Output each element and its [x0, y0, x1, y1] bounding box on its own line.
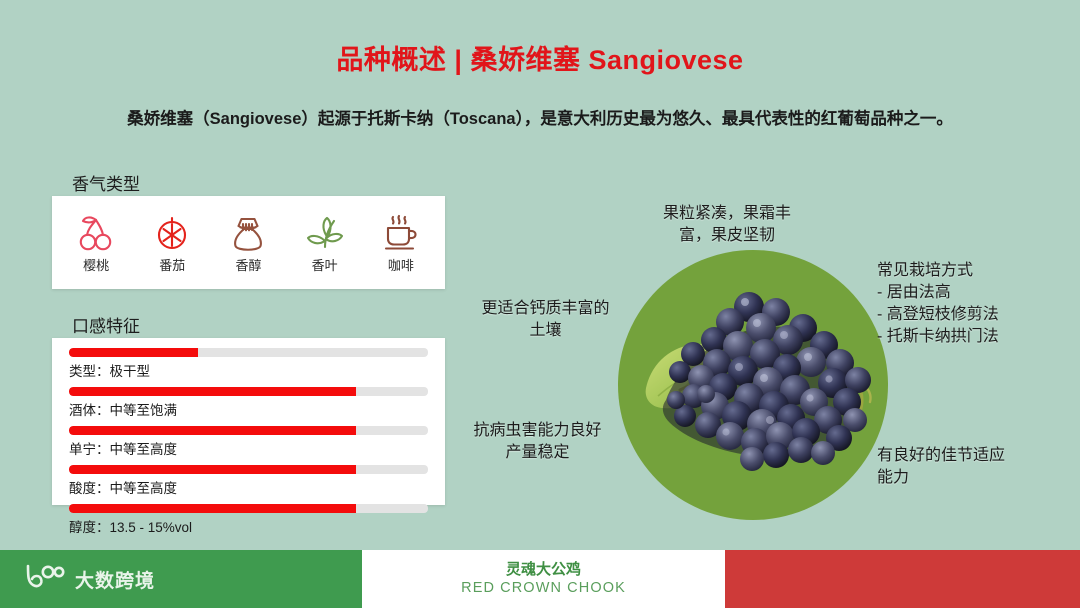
aroma-item-cherry[interactable]: 樱桃 — [59, 213, 133, 272]
taste-bar-track — [69, 504, 428, 513]
taste-bar-fill — [69, 504, 356, 513]
taste-bar-track — [69, 387, 428, 396]
footer-brand-en: RED CROWN CHOOK — [461, 579, 626, 597]
callout-heading: 常见栽培方式 — [877, 260, 1077, 282]
spice-sachet-icon — [229, 213, 267, 255]
taste-section-heading: 口感特征 — [72, 312, 140, 337]
footer-brand-name: 大数跨境 — [75, 566, 155, 593]
taste-bar-fill — [69, 426, 356, 435]
taste-card: 类型：极干型 酒体：中等至饱满 单宁：中等至高度 酸度：中等至高度 — [52, 338, 445, 505]
callout-line: 能力 — [877, 467, 1062, 489]
cherry-icon — [77, 213, 115, 255]
taste-row-text: 酒体：中等至饱满 — [69, 399, 428, 419]
lead-paragraph: 桑娇维塞（Sangiovese）起源于托斯卡纳（Toscana），是意大利历史最… — [0, 105, 1080, 129]
callout-line: 土壤 — [458, 320, 633, 342]
aroma-section-heading: 香气类型 — [72, 170, 140, 195]
grape-photo-circle — [618, 250, 888, 520]
taste-row-text: 单宁：中等至高度 — [69, 438, 428, 458]
callout-line: 产量稳定 — [440, 442, 635, 464]
aroma-item-herb[interactable]: 香叶 — [288, 213, 362, 272]
aroma-label: 咖啡 — [388, 259, 414, 272]
taste-row: 酒体：中等至饱满 — [69, 387, 428, 419]
taste-row: 类型：极干型 — [69, 348, 428, 380]
taste-row-list: 类型：极干型 酒体：中等至饱满 单宁：中等至高度 酸度：中等至高度 — [52, 338, 445, 536]
taste-bar-fill — [69, 465, 356, 474]
aroma-item-tomato[interactable]: 番茄 — [135, 213, 209, 272]
taste-row-text: 酸度：中等至高度 — [69, 477, 428, 497]
taste-row: 单宁：中等至高度 — [69, 426, 428, 458]
callout-line: 富，果皮坚韧 — [627, 225, 827, 247]
sangiovese-grape-cluster — [618, 250, 888, 520]
footer-center-brand: 灵魂大公鸡 RED CROWN CHOOK — [362, 550, 725, 608]
taste-bar-track — [69, 348, 428, 357]
taste-bar-track — [69, 465, 428, 474]
taste-row: 醇度：13.5 - 15%vol — [69, 504, 428, 536]
footer: 大数跨境 灵魂大公鸡 RED CROWN CHOOK — [0, 550, 1080, 608]
footer-accent-band — [725, 550, 1080, 608]
coffee-cup-icon — [381, 213, 421, 255]
callout-berry-traits: 果粒紧凑，果霜丰 富，果皮坚韧 — [627, 203, 827, 247]
aroma-item-spice[interactable]: 香醇 — [211, 213, 285, 272]
aroma-label: 香叶 — [312, 259, 338, 272]
page-title: 品种概述 | 桑娇维塞 Sangiovese — [0, 38, 1080, 77]
aroma-label: 樱桃 — [83, 259, 109, 272]
aroma-item-coffee[interactable]: 咖啡 — [364, 213, 438, 272]
slide-canvas: 品种概述 | 桑娇维塞 Sangiovese 桑娇维塞（Sangiovese）起… — [0, 0, 1080, 608]
footer-brand-cn: 灵魂大公鸡 — [506, 561, 581, 580]
callout-list-item: - 高登短枝修剪法 — [877, 304, 1077, 326]
callout-training-methods: 常见栽培方式 - 居由法高 - 高登短枝修剪法 - 托斯卡纳拱门法 — [877, 260, 1077, 348]
dashu-logo-icon — [22, 564, 66, 595]
callout-line: 更适合钙质丰富的 — [458, 298, 633, 320]
taste-row-text: 类型：极干型 — [69, 360, 428, 380]
aroma-card: 樱桃 番茄 — [52, 196, 445, 289]
footer-brand-band: 大数跨境 — [0, 550, 362, 608]
callout-soil: 更适合钙质丰富的 土壤 — [458, 298, 633, 342]
taste-bar-fill — [69, 348, 198, 357]
callout-line: 抗病虫害能力良好 — [440, 420, 635, 442]
callout-list-item: - 托斯卡纳拱门法 — [877, 326, 1077, 348]
taste-bar-fill — [69, 387, 356, 396]
callout-list-item: - 居由法高 — [877, 282, 1077, 304]
aroma-icon-row: 樱桃 番茄 — [52, 196, 445, 289]
taste-row-text: 醇度：13.5 - 15%vol — [69, 516, 428, 536]
taste-row: 酸度：中等至高度 — [69, 465, 428, 497]
taste-bar-track — [69, 426, 428, 435]
tomato-icon — [153, 213, 191, 255]
aroma-label: 香醇 — [235, 259, 261, 272]
callout-disease-resistance: 抗病虫害能力良好 产量稳定 — [440, 420, 635, 464]
callout-line: 有良好的佳节适应 — [877, 445, 1062, 467]
callout-line: 果粒紧凑，果霜丰 — [627, 203, 827, 225]
callout-adaptability: 有良好的佳节适应 能力 — [877, 445, 1062, 489]
herb-leaf-icon — [305, 213, 345, 255]
aroma-label: 番茄 — [159, 259, 185, 272]
